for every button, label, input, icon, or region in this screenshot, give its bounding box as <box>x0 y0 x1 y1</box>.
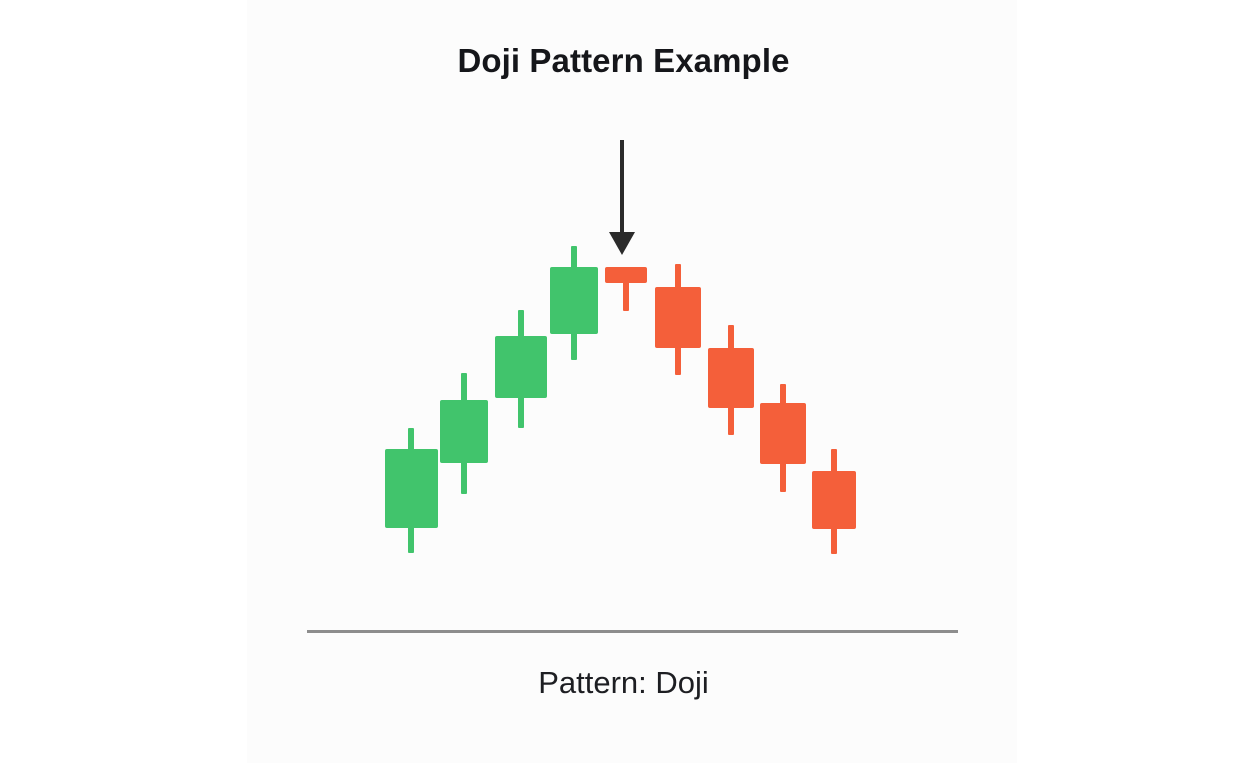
candle-body <box>605 267 647 283</box>
candle-body <box>708 348 754 408</box>
candle-body <box>655 287 701 348</box>
pattern-caption: Pattern: Doji <box>0 665 1247 701</box>
candle-body <box>385 449 438 528</box>
candle-body <box>760 403 806 464</box>
candle-body <box>812 471 856 529</box>
candle-body <box>550 267 598 334</box>
axis-baseline <box>307 630 958 633</box>
candle-body <box>440 400 488 463</box>
down-arrow-icon <box>592 138 652 260</box>
chart-canvas: Doji Pattern Example Pattern: Doji <box>0 0 1247 763</box>
candlestick-plot <box>0 0 1247 763</box>
candle-body <box>495 336 547 398</box>
